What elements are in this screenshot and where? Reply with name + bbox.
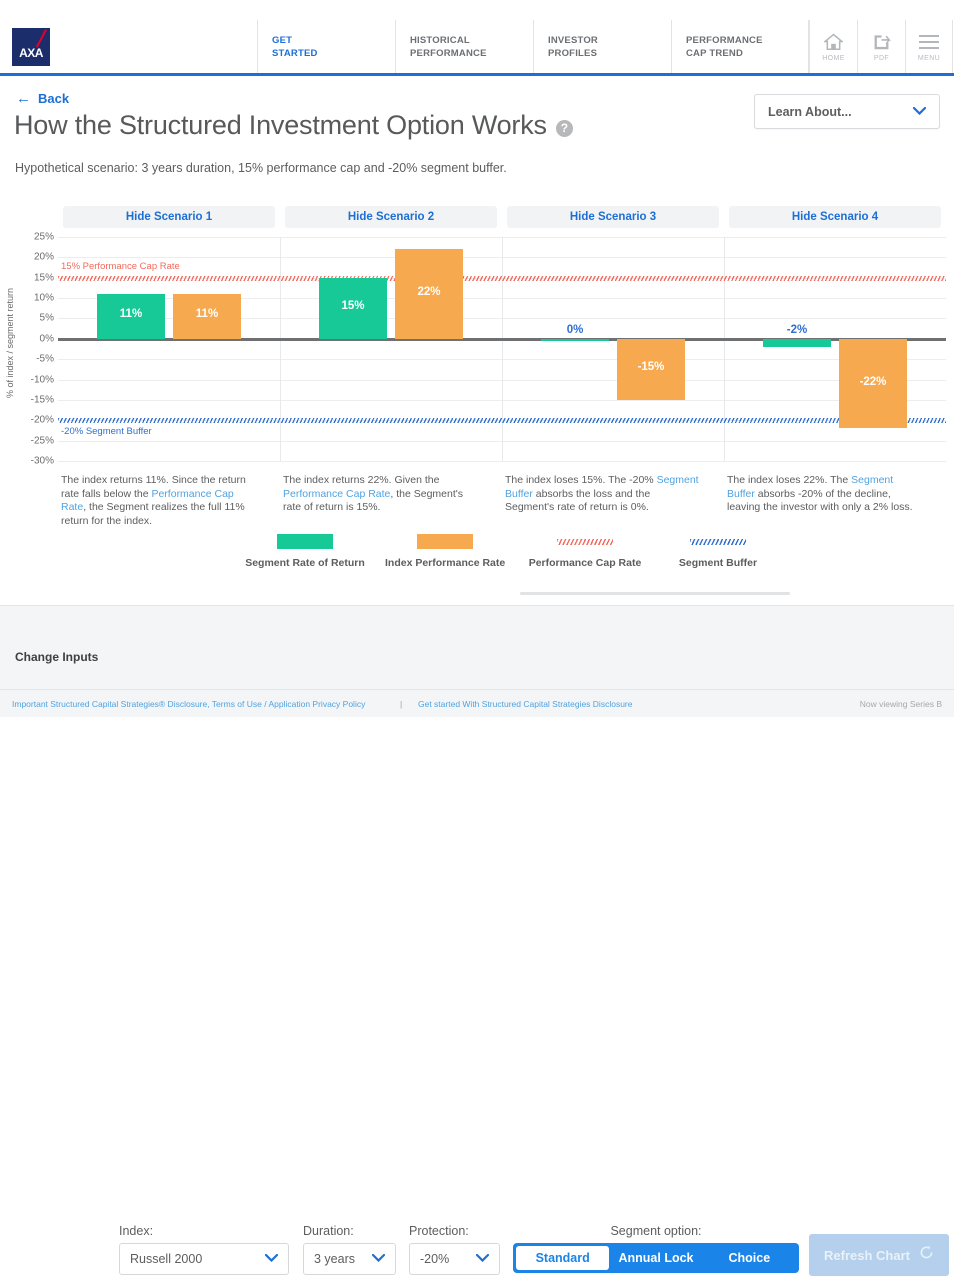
nav-menu-caption: MENU bbox=[918, 55, 940, 62]
axa-logo[interactable]: AXA bbox=[12, 28, 50, 66]
page-subtitle: Hypothetical scenario: 3 years duration,… bbox=[15, 161, 507, 175]
learn-about-dropdown[interactable]: Learn About... bbox=[754, 94, 940, 129]
bar-value-label: -2% bbox=[763, 324, 831, 336]
nav-icon-group: HOME PDF MENU bbox=[809, 20, 953, 73]
bar-value-label: 11% bbox=[97, 308, 165, 320]
hide-scenario-button-4[interactable]: Hide Scenario 4 bbox=[729, 206, 941, 228]
description-text: absorbs -20% of the decline, leaving the… bbox=[727, 488, 913, 514]
index-caption: Index: bbox=[119, 1224, 289, 1238]
bar-value-label: 0% bbox=[541, 324, 609, 336]
legend-item-1: Segment Rate of Return bbox=[245, 534, 365, 569]
logo-text: AXA bbox=[12, 46, 50, 60]
tab-get-started[interactable]: GET STARTED bbox=[257, 20, 395, 73]
y-axis-tick: -25% bbox=[18, 435, 54, 446]
tab-investor-profiles[interactable]: INVESTOR PROFILES bbox=[533, 20, 671, 73]
footer-get-started-link[interactable]: Get started With Structured Capital Stra… bbox=[418, 699, 632, 709]
protection-field: Protection: -20% bbox=[409, 1224, 500, 1275]
menu-icon bbox=[919, 32, 939, 52]
page-title-text: How the Structured Investment Option Wor… bbox=[14, 110, 547, 141]
refresh-chart-button[interactable]: Refresh Chart bbox=[809, 1234, 949, 1276]
footer-disclosure-link[interactable]: Important Structured Capital Strategies®… bbox=[12, 699, 365, 709]
segment-option-field: Segment option: Standard Annual Lock Cho… bbox=[513, 1224, 799, 1273]
tab-performance-cap-trend[interactable]: PERFORMANCE CAP TREND bbox=[671, 20, 809, 73]
chevron-down-icon bbox=[372, 1253, 385, 1265]
scenario-descriptions: The index returns 11%. Since the return … bbox=[0, 474, 954, 530]
protection-caption: Protection: bbox=[409, 1224, 500, 1238]
tab-historical-performance[interactable]: HISTORICAL PERFORMANCE bbox=[395, 20, 533, 73]
y-axis-tick: 25% bbox=[18, 232, 54, 243]
y-axis-title-text: % of index / segment return bbox=[5, 283, 15, 403]
hide-scenario-label-2: Hide Scenario 2 bbox=[348, 211, 434, 223]
logo-slash bbox=[36, 29, 47, 48]
scenario-header-row: Hide Scenario 1Hide Scenario 2Hide Scena… bbox=[0, 206, 954, 228]
duration-field: Duration: 3 years bbox=[303, 1224, 396, 1275]
hide-scenario-button-1[interactable]: Hide Scenario 1 bbox=[63, 206, 275, 228]
tab-historical-performance-line1: HISTORICAL bbox=[410, 34, 533, 47]
help-icon[interactable]: ? bbox=[556, 120, 573, 137]
description-text: The index loses 15%. The -20% bbox=[505, 474, 657, 486]
series-note: Now viewing Series B bbox=[860, 699, 942, 709]
legend-swatch-bluehatch bbox=[690, 539, 746, 545]
footer-bar: Important Structured Capital Strategies®… bbox=[0, 689, 954, 717]
segment-option-choice[interactable]: Choice bbox=[703, 1246, 796, 1270]
nav-pdf-caption: PDF bbox=[874, 55, 889, 62]
performance-cap-rate-label: 15% Performance Cap Rate bbox=[61, 261, 180, 272]
nav-home-button[interactable]: HOME bbox=[809, 20, 857, 73]
change-inputs-label: Change Inputs bbox=[15, 650, 98, 664]
back-label: Back bbox=[38, 91, 69, 106]
footer-separator: | bbox=[400, 699, 402, 709]
horizontal-scrollbar[interactable] bbox=[520, 592, 790, 595]
hide-scenario-button-3[interactable]: Hide Scenario 3 bbox=[507, 206, 719, 228]
bar-value-label: -22% bbox=[839, 376, 907, 388]
nav-tabs: GET STARTED HISTORICAL PERFORMANCE INVES… bbox=[257, 20, 809, 73]
change-inputs-bar: Change Inputs Index: Russell 2000 Durati… bbox=[0, 605, 954, 689]
index-value: Russell 2000 bbox=[130, 1252, 202, 1266]
y-axis-tick: -30% bbox=[18, 456, 54, 467]
y-axis-tick: 5% bbox=[18, 313, 54, 324]
description-text: The index returns 22%. Given the bbox=[283, 474, 439, 486]
segment-option-toggle-group: Standard Annual Lock Choice bbox=[513, 1243, 799, 1273]
description-text: The index loses 22%. The bbox=[727, 474, 851, 486]
scenario-bar-chart: % of index / segment return 25%20%15%10%… bbox=[0, 228, 954, 473]
tab-performance-cap-trend-line2: CAP TREND bbox=[686, 47, 808, 60]
duration-value: 3 years bbox=[314, 1252, 355, 1266]
segment-buffer-line bbox=[58, 418, 946, 423]
segment-option-annual-lock[interactable]: Annual Lock bbox=[609, 1246, 702, 1270]
scenario-separator bbox=[724, 237, 725, 461]
hide-scenario-label-1: Hide Scenario 1 bbox=[126, 211, 212, 223]
segment-option-standard[interactable]: Standard bbox=[516, 1246, 609, 1270]
y-axis-tick: 10% bbox=[18, 293, 54, 304]
y-axis-tick: -15% bbox=[18, 394, 54, 405]
legend-item-3: Performance Cap Rate bbox=[525, 534, 645, 569]
scenario-separator bbox=[502, 237, 503, 461]
pdf-icon bbox=[872, 32, 891, 52]
tab-investor-profiles-line2: PROFILES bbox=[548, 47, 671, 60]
bar-value-label: 15% bbox=[319, 300, 387, 312]
tab-historical-performance-line2: PERFORMANCE bbox=[410, 47, 533, 60]
protection-select[interactable]: -20% bbox=[409, 1243, 500, 1275]
home-icon bbox=[824, 32, 843, 52]
back-arrow-icon: ← bbox=[16, 91, 31, 106]
bar-value-label: -15% bbox=[617, 361, 685, 373]
tab-get-started-line2: STARTED bbox=[272, 47, 395, 60]
hide-scenario-label-3: Hide Scenario 3 bbox=[570, 211, 656, 223]
legend-item-4: Segment Buffer bbox=[658, 534, 778, 569]
scenario-description-1: The index returns 11%. Since the return … bbox=[61, 474, 255, 528]
bar-s3-segment-rate[interactable] bbox=[541, 339, 609, 341]
page-title: How the Structured Investment Option Wor… bbox=[14, 110, 573, 141]
scenario-description-3: The index loses 15%. The -20% Segment Bu… bbox=[505, 474, 699, 515]
y-axis-tick: -20% bbox=[18, 415, 54, 426]
tab-performance-cap-trend-line1: PERFORMANCE bbox=[686, 34, 808, 47]
scenario-separator bbox=[280, 237, 281, 461]
scenario-description-2: The index returns 22%. Given the Perform… bbox=[283, 474, 477, 515]
chevron-down-icon bbox=[265, 1253, 278, 1265]
description-link[interactable]: Performance Cap Rate bbox=[283, 488, 390, 500]
top-navigation-bar: AXA GET STARTED HISTORICAL PERFORMANCE I… bbox=[0, 20, 954, 76]
tab-investor-profiles-line1: INVESTOR bbox=[548, 34, 671, 47]
bar-value-label: 11% bbox=[173, 308, 241, 320]
legend-swatch-green bbox=[277, 534, 333, 549]
legend-swatch-orange bbox=[417, 534, 473, 549]
description-text: , the Segment realizes the full 11% retu… bbox=[61, 501, 245, 527]
refresh-icon bbox=[919, 1245, 934, 1265]
axa-sio-calculator-page: AXA GET STARTED HISTORICAL PERFORMANCE I… bbox=[0, 0, 954, 717]
legend-label: Index Performance Rate bbox=[385, 557, 505, 569]
legend-label: Segment Rate of Return bbox=[245, 557, 365, 569]
y-axis-tick: 15% bbox=[18, 272, 54, 283]
index-select[interactable]: Russell 2000 bbox=[119, 1243, 289, 1275]
y-axis-title: % of index / segment return bbox=[0, 228, 12, 473]
hide-scenario-label-4: Hide Scenario 4 bbox=[792, 211, 878, 223]
duration-select[interactable]: 3 years bbox=[303, 1243, 396, 1275]
segment-option-caption: Segment option: bbox=[513, 1224, 799, 1238]
refresh-chart-label: Refresh Chart bbox=[824, 1248, 910, 1263]
duration-caption: Duration: bbox=[303, 1224, 396, 1238]
chevron-down-icon bbox=[913, 106, 926, 118]
chevron-down-icon bbox=[476, 1253, 489, 1265]
bar-value-label: 22% bbox=[395, 286, 463, 298]
protection-value: -20% bbox=[420, 1252, 449, 1266]
index-field: Index: Russell 2000 bbox=[119, 1224, 289, 1275]
y-axis-tick: 0% bbox=[18, 333, 54, 344]
legend-item-2: Index Performance Rate bbox=[385, 534, 505, 569]
nav-pdf-button[interactable]: PDF bbox=[857, 20, 905, 73]
scenario-description-4: The index loses 22%. The Segment Buffer … bbox=[727, 474, 921, 515]
y-axis-tick: -10% bbox=[18, 374, 54, 385]
legend-label: Performance Cap Rate bbox=[525, 557, 645, 569]
tab-get-started-line1: GET bbox=[272, 34, 395, 47]
y-axis-tick: 20% bbox=[18, 252, 54, 263]
nav-home-caption: HOME bbox=[822, 55, 845, 62]
gridline bbox=[58, 461, 946, 462]
segment-buffer-label: -20% Segment Buffer bbox=[61, 426, 152, 437]
legend-label: Segment Buffer bbox=[658, 557, 778, 569]
chart-legend: Segment Rate of ReturnIndex Performance … bbox=[0, 534, 954, 582]
back-button[interactable]: ← Back bbox=[16, 91, 69, 106]
legend-swatch-redhatch bbox=[557, 539, 613, 545]
hide-scenario-button-2[interactable]: Hide Scenario 2 bbox=[285, 206, 497, 228]
performance-cap-rate-line bbox=[58, 276, 946, 281]
learn-about-label: Learn About... bbox=[768, 105, 852, 119]
bar-s4-segment-rate[interactable] bbox=[763, 339, 831, 347]
y-axis-tick: -5% bbox=[18, 354, 54, 365]
nav-menu-button[interactable]: MENU bbox=[905, 20, 953, 73]
